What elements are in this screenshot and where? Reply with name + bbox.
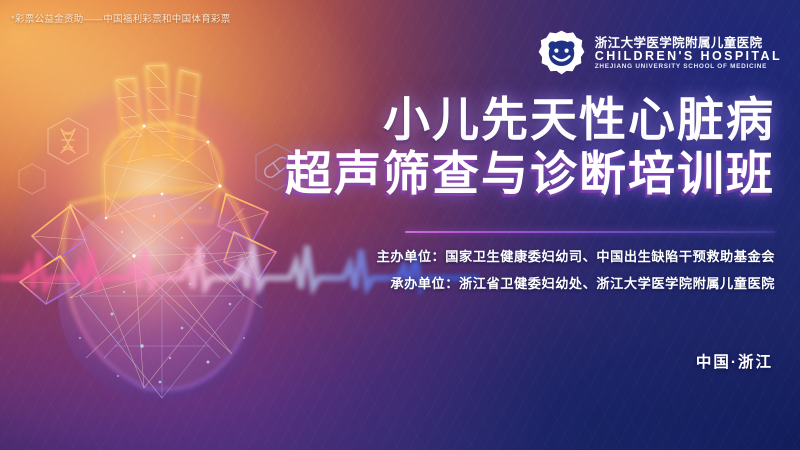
- organizer-organization-line: 承办单位：浙江省卫健委妇幼处、浙江大学医学院附属儿童医院: [390, 273, 775, 292]
- location-label: 中国·浙江: [696, 350, 773, 372]
- hospital-logo-text: 浙江大学医学院附属儿童医院 CHILDREN'S HOSPITAL ZHEJIA…: [595, 37, 782, 70]
- hospital-name-cn: 浙江大学医学院附属儿童医院: [595, 37, 782, 50]
- lottery-fund-credit-note: *彩票公益金资助——中国福利彩票和中国体育彩票: [11, 11, 231, 25]
- hexagon-dna-icon: [44, 116, 92, 166]
- hexagon-outline-icon: [16, 162, 48, 196]
- poster-canvas: *彩票公益金资助——中国福利彩票和中国体育彩票 浙江大学医学院附属儿童医院 CH…: [0, 0, 800, 450]
- bear-face-badge-icon: [537, 29, 586, 78]
- host-organization-line: 主办单位：国家卫生健康委妇幼司、中国出生缺陷干预救助基金会: [377, 246, 775, 265]
- title-line-2: 超声筛查与诊断培训班: [285, 150, 775, 197]
- title-divider: [405, 231, 775, 233]
- hospital-name-en: CHILDREN'S HOSPITAL: [595, 50, 782, 63]
- hospital-name-en-sub: ZHEJIANG UNIVERSITY SCHOOL OF MEDICINE: [595, 64, 782, 70]
- title-line-1: 小儿先天性心脏病: [285, 96, 775, 143]
- page-title: 小儿先天性心脏病 超声筛查与诊断培训班: [285, 96, 775, 197]
- hospital-logo: 浙江大学医学院附属儿童医院 CHILDREN'S HOSPITAL ZHEJIA…: [537, 29, 782, 78]
